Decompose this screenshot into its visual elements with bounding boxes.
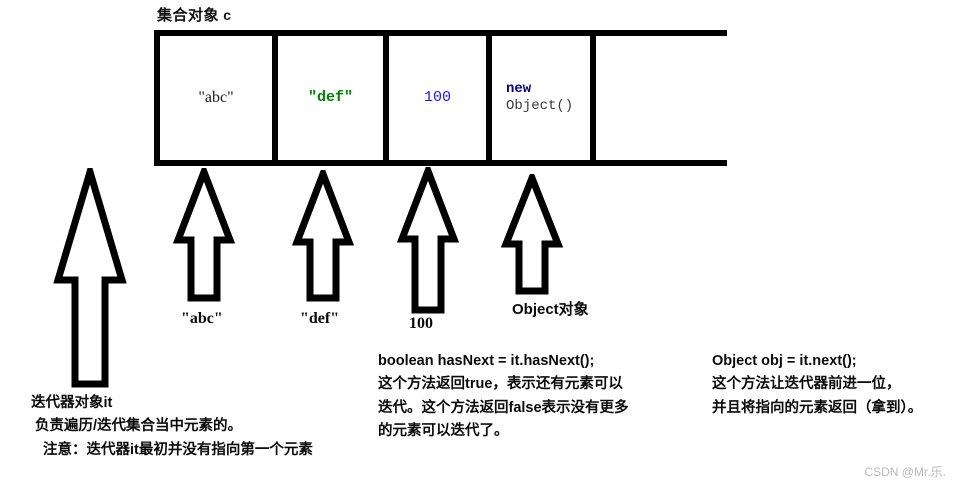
element-pointer-arrow-object: [500, 174, 564, 296]
hasnext-note-line-0: 这个方法返回true，表示还有元素可以: [378, 373, 629, 396]
pointer-label-def: "def": [300, 310, 339, 328]
iterator-note-heading: 迭代器对象it: [31, 392, 313, 415]
collection-cell-0: "abc": [160, 35, 272, 161]
collection-cell-4-empty: [596, 35, 727, 161]
collection-container-box: "abc" "def" 100 new Object(): [154, 30, 727, 166]
collection-cell-1: "def": [278, 35, 383, 161]
pointer-label-abc: "abc": [181, 310, 223, 328]
next-note-line-0: 这个方法让迭代器前进一位，: [712, 373, 922, 396]
constructor-object: Object(): [506, 98, 573, 116]
pointer-label-100: 100: [409, 315, 433, 333]
cell-value-def: "def": [308, 89, 353, 108]
hasnext-note-line-1: 迭代。这个方法返回false表示没有更多: [378, 397, 629, 420]
collection-cell-3: new Object(): [492, 35, 604, 161]
next-note-line-1: 并且将指向的元素返回（拿到）。: [712, 397, 922, 420]
iterator-note-block: 迭代器对象it 负责遍历/迭代集合当中元素的。 注意：迭代器it最初并没有指向第…: [31, 392, 313, 462]
element-pointer-arrow-abc: [172, 168, 236, 303]
pointer-label-object: Object对象: [512, 298, 589, 319]
collection-variable-name: c: [223, 9, 232, 25]
hasnext-note-block: boolean hasNext = it.hasNext(); 这个方法返回tr…: [378, 350, 629, 444]
collection-title-label: 集合对象: [157, 7, 219, 24]
csdn-watermark: CSDN @Mr.乐.: [864, 463, 946, 480]
collection-title: 集合对象c: [157, 4, 232, 25]
iterator-pointer-arrow: [50, 168, 130, 390]
cell-value-abc: "abc": [198, 88, 233, 108]
next-note-heading: Object obj = it.next();: [712, 350, 922, 373]
element-pointer-arrow-100: [396, 167, 460, 315]
collection-cell-2: 100: [389, 35, 486, 161]
element-pointer-arrow-def: [291, 170, 355, 303]
keyword-new: new: [506, 81, 573, 99]
iterator-note-line-0: 负责遍历/迭代集合当中元素的。: [31, 415, 313, 438]
cell-value-100: 100: [424, 89, 451, 108]
diagram-canvas: 集合对象c "abc" "def" 100 new Object(): [0, 0, 956, 484]
iterator-note-line-1: 注意：迭代器it最初并没有指向第一个元素: [31, 439, 313, 462]
next-note-block: Object obj = it.next(); 这个方法让迭代器前进一位， 并且…: [712, 350, 922, 420]
hasnext-note-heading: boolean hasNext = it.hasNext();: [378, 350, 629, 373]
cell-value-object: new Object(): [506, 81, 573, 116]
hasnext-note-line-2: 的元素可以迭代了。: [378, 420, 629, 443]
